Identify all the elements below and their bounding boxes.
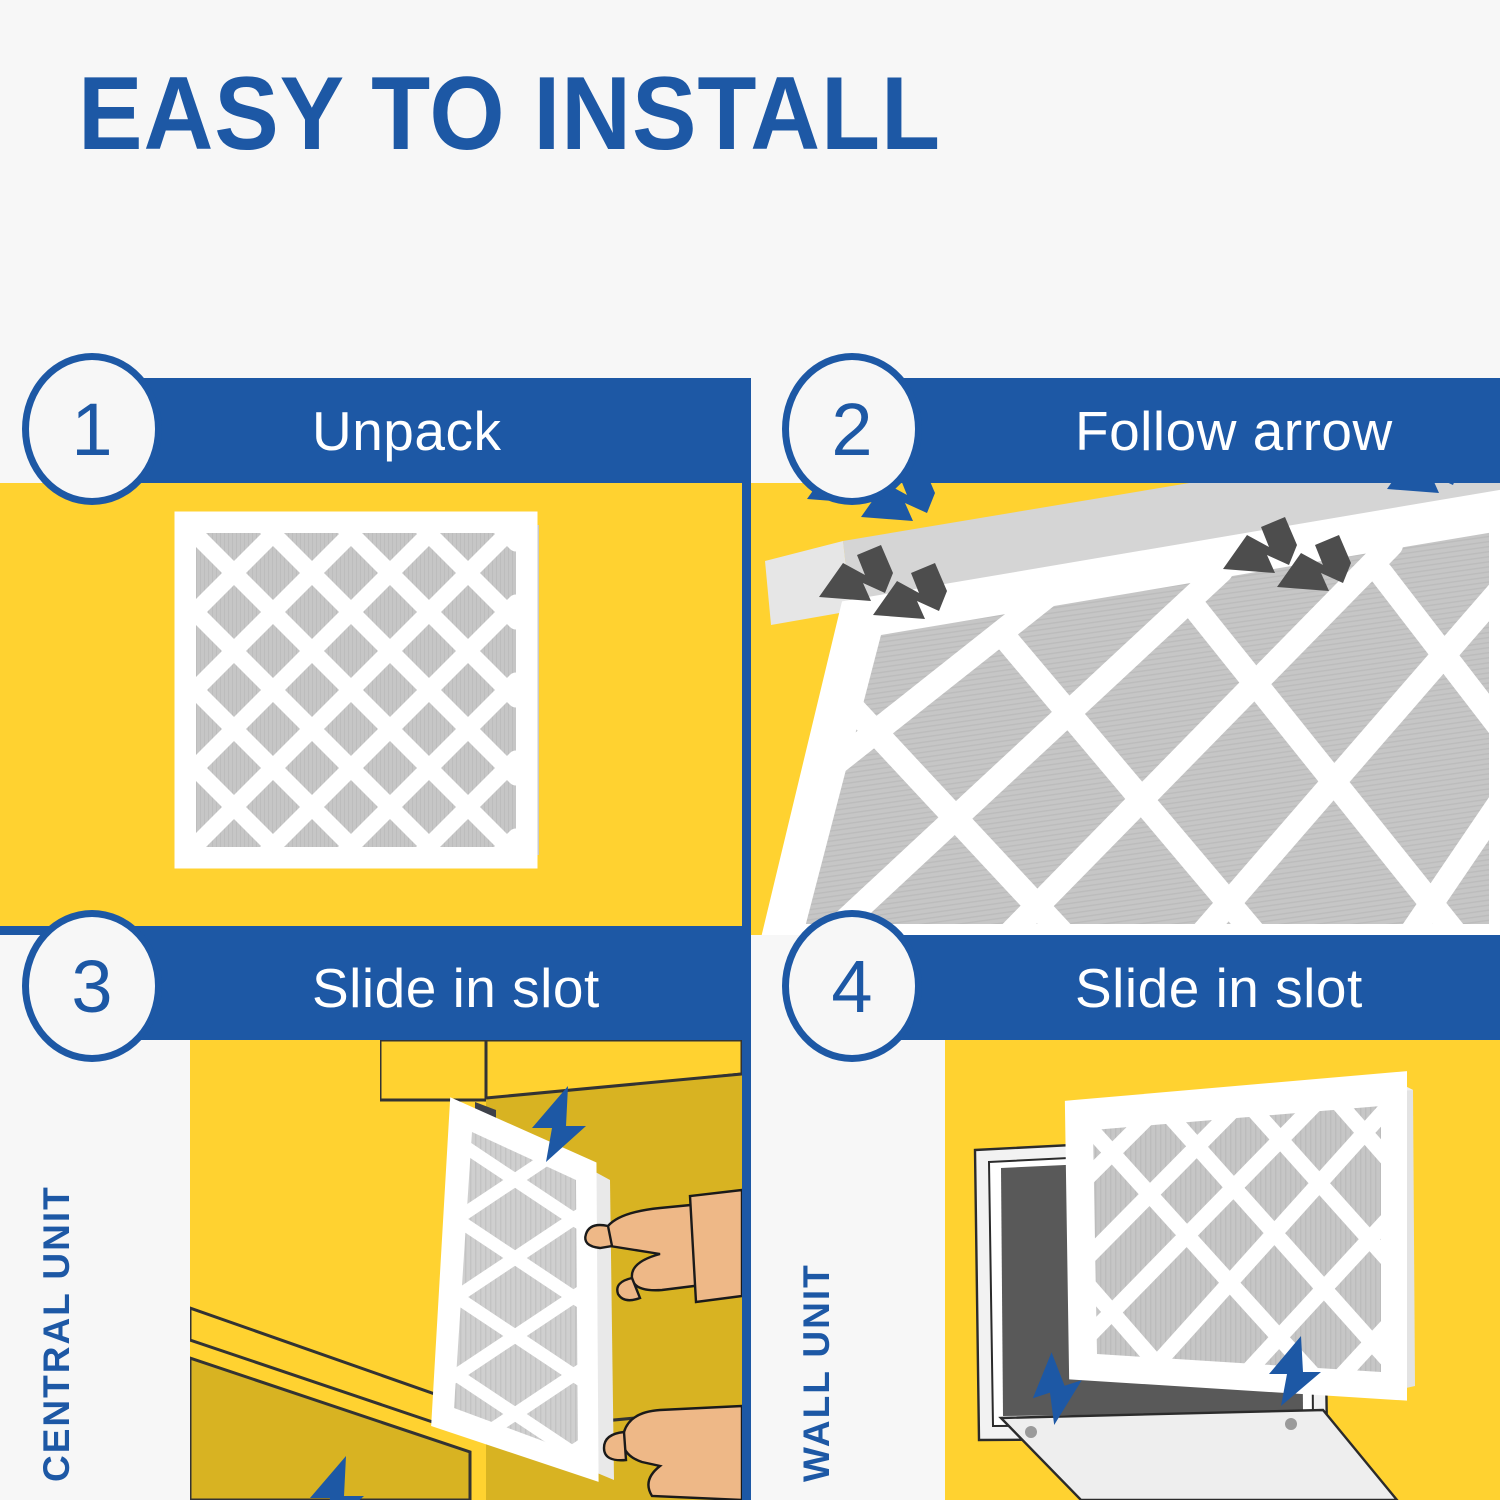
step-3-label: Slide in slot: [312, 956, 600, 1020]
column-divider-bottom: [742, 935, 751, 1500]
step-1-label: Unpack: [312, 399, 501, 463]
step-1-number: 1: [71, 387, 112, 472]
step-1-illustration-area: [0, 483, 742, 935]
tilted-air-filter-with-airflow-arrows-icon: [751, 483, 1500, 935]
hands-inserting-filter-into-central-unit-icon: [190, 1040, 742, 1500]
step-3-illustration-area: [190, 1040, 742, 1500]
step-4-number-badge: 4: [782, 910, 922, 1062]
column-divider-top: [742, 378, 751, 935]
step-1-number-badge: 1: [22, 353, 162, 505]
step-2-number: 2: [831, 387, 872, 472]
step-2-number-badge: 2: [782, 353, 922, 505]
step-3-number: 3: [71, 944, 112, 1029]
infographic-canvas: EASY TO INSTALL: [0, 0, 1500, 1500]
step-4-illustration-area: [945, 1040, 1500, 1500]
step-1-header: Unpack: [110, 378, 742, 483]
step-2-header: Follow arrow: [870, 378, 1500, 483]
step-4-header: Slide in slot: [870, 935, 1500, 1040]
step-4-number: 4: [831, 944, 872, 1029]
step-3-side-label: CENTRAL UNIT: [36, 1185, 78, 1482]
page-title: EASY TO INSTALL: [78, 62, 941, 166]
flat-air-filter-front-view-icon: [0, 483, 742, 935]
step-2-illustration-area: [751, 483, 1500, 935]
step-2-label: Follow arrow: [1075, 399, 1393, 463]
step-4-side-label: WALL UNIT: [796, 1263, 838, 1482]
step-3-number-badge: 3: [22, 910, 162, 1062]
filter-inserted-into-wall-unit-grille-icon: [945, 1040, 1500, 1500]
step-3-header: Slide in slot: [110, 935, 742, 1040]
step-4-label: Slide in slot: [1075, 956, 1363, 1020]
